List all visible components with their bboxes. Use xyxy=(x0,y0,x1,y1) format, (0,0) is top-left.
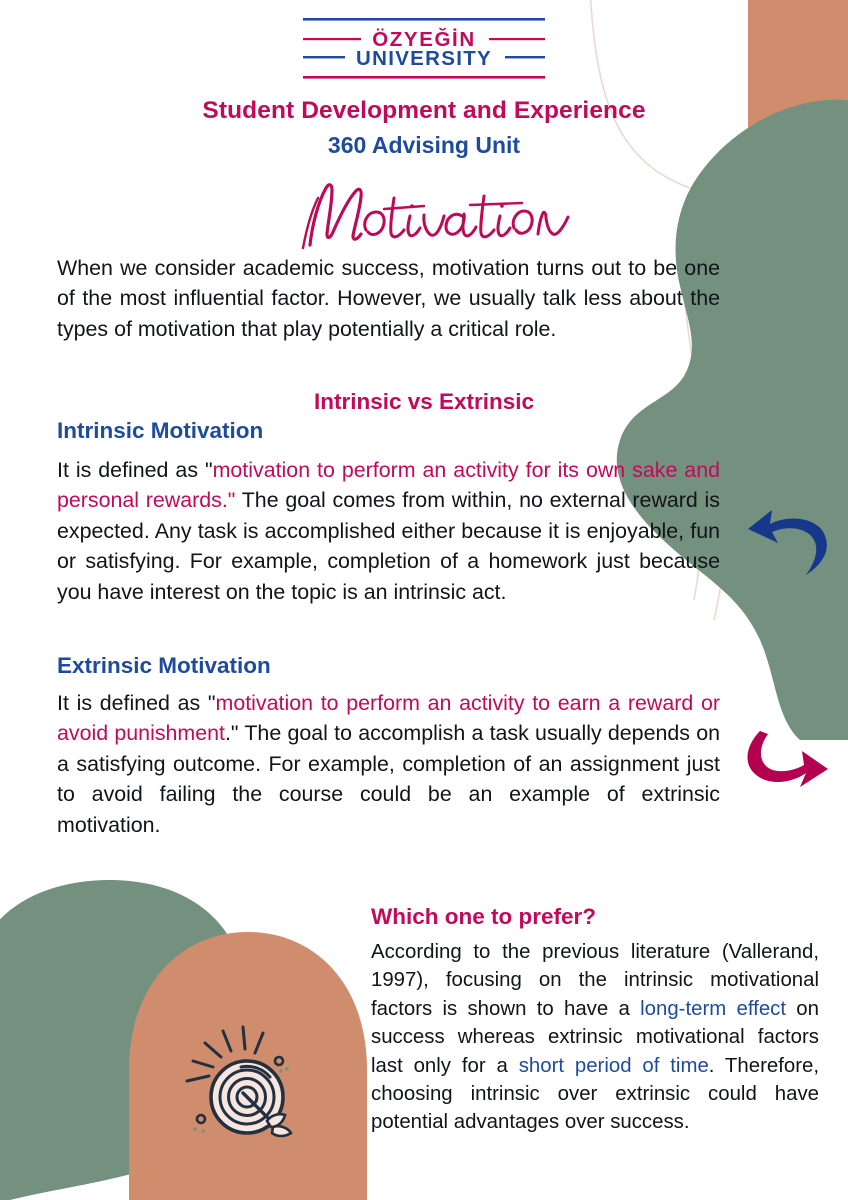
heading-extrinsic-motivation: Extrinsic Motivation xyxy=(57,652,271,680)
prefer-highlight-short-period: short period of time xyxy=(519,1055,709,1077)
curved-arrow-right-icon xyxy=(740,725,830,797)
logo-text-university: UNIVERSITY xyxy=(356,47,492,70)
script-title xyxy=(0,170,848,252)
ozyegin-university-logo: ÖZYEĞİN UNIVERSITY xyxy=(301,8,547,86)
content-layer: ÖZYEĞİN UNIVERSITY Student Development a… xyxy=(0,0,848,1200)
extrinsic-lead: It is defined as " xyxy=(57,691,216,715)
section-heading-center: Intrinsic vs Extrinsic xyxy=(0,388,848,416)
flyer-page: ÖZYEĞİN UNIVERSITY Student Development a… xyxy=(0,0,848,1200)
curved-arrow-left-icon xyxy=(746,505,834,580)
heading-which-one-to-prefer: Which one to prefer? xyxy=(371,903,596,931)
header-line-1: Student Development and Experience xyxy=(0,96,848,126)
prefer-highlight-long-term: long-term effect xyxy=(640,998,786,1020)
extrinsic-paragraph: It is defined as "motivation to perform … xyxy=(57,688,720,840)
intrinsic-lead: It is defined as " xyxy=(57,458,213,482)
prefer-paragraph: According to the previous literature (Va… xyxy=(371,938,819,1137)
intro-paragraph: When we consider academic success, motiv… xyxy=(57,253,720,344)
heading-intrinsic-motivation: Intrinsic Motivation xyxy=(57,417,263,445)
header-line-2: 360 Advising Unit xyxy=(0,129,848,161)
logo-wrapper: ÖZYEĞİN UNIVERSITY xyxy=(0,8,848,86)
target-arrow-icon xyxy=(175,1015,305,1155)
intrinsic-paragraph: It is defined as "motivation to perform … xyxy=(57,455,720,607)
header-block: Student Development and Experience 360 A… xyxy=(0,96,848,161)
